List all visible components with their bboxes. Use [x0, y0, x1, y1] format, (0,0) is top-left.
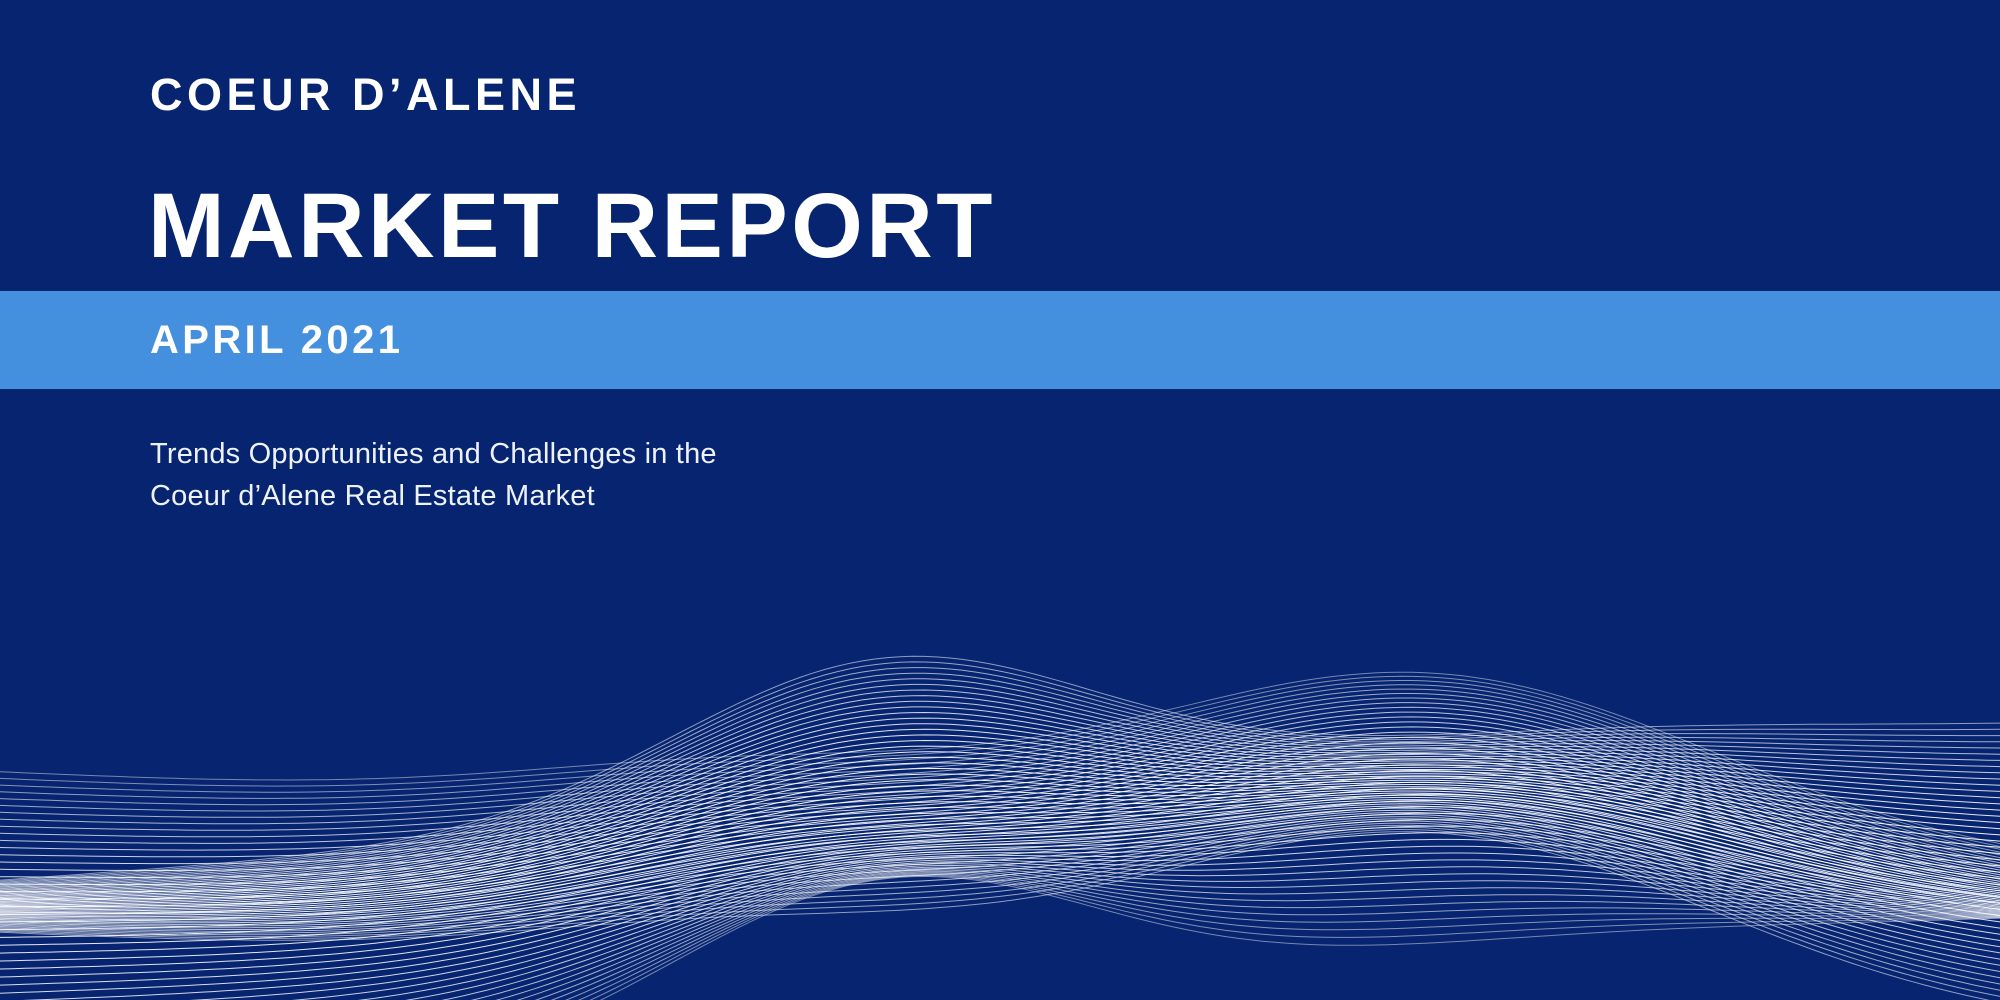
wave-line	[0, 780, 2000, 906]
wave-line	[0, 823, 2000, 978]
wave-line	[0, 839, 2000, 1000]
wave-line	[0, 746, 2000, 899]
subtitle-line-2: Coeur d’Alene Real Estate Market	[150, 475, 717, 517]
wave-line	[0, 860, 2000, 1000]
wave-line	[0, 727, 2000, 875]
wave-line	[0, 724, 2000, 894]
report-cover-page: COEUR D’ALENE MARKET REPORT APRIL 2021 T…	[0, 0, 2000, 1000]
wave-line	[0, 757, 2000, 901]
wave-line	[0, 732, 2000, 877]
wave-line	[0, 759, 2000, 899]
wave-line	[0, 788, 2000, 937]
wave-line	[0, 672, 2000, 843]
wave-line	[0, 722, 2000, 873]
wave-line	[0, 656, 2000, 880]
wave-line	[0, 876, 2000, 1000]
wave-line	[0, 832, 2000, 1000]
wave-line	[0, 853, 2000, 1000]
wave-line	[0, 826, 2000, 985]
wave-line	[0, 703, 2000, 863]
wave-line	[0, 748, 2000, 885]
brand-eyebrow: COEUR D’ALENE	[150, 72, 581, 117]
wave-line	[0, 743, 2000, 882]
wave-line	[0, 717, 2000, 870]
wave-line	[0, 871, 2000, 1000]
wave-line	[0, 718, 2000, 893]
wave-line	[0, 808, 2000, 934]
wave-line	[0, 833, 2000, 994]
wave-line	[0, 769, 2000, 904]
wave-line	[0, 865, 2000, 1000]
wave-line	[0, 801, 2000, 954]
wave-line	[0, 787, 2000, 908]
wave-line	[0, 681, 2000, 850]
wave-line	[0, 741, 2000, 898]
wave-line	[0, 752, 2000, 900]
wave-line	[0, 707, 2000, 865]
wave-line	[0, 876, 2000, 1000]
wave-line	[0, 846, 2000, 1000]
wave-line	[0, 694, 2000, 858]
wave-line	[0, 696, 2000, 889]
wave-line	[0, 712, 2000, 868]
wave-line	[0, 821, 2000, 972]
wave-line	[0, 782, 2000, 929]
wave-line	[0, 791, 2000, 910]
wave-line	[0, 793, 2000, 911]
wave-line	[0, 795, 2000, 912]
wave-line	[0, 698, 2000, 860]
wave-line	[0, 810, 2000, 940]
wave-line	[0, 830, 2000, 997]
wave-line	[0, 804, 2000, 922]
wave-line	[0, 662, 2000, 881]
wave-line	[0, 864, 2000, 1000]
wave-line	[0, 737, 2000, 879]
wave-line	[0, 797, 2000, 913]
wave-line	[0, 789, 2000, 909]
wave-line	[0, 806, 2000, 928]
wave-line	[0, 819, 2000, 966]
wave-line	[0, 690, 2000, 887]
wave-line	[0, 673, 2000, 883]
wave-line	[0, 794, 2000, 945]
wave-line	[0, 754, 2000, 892]
wave-line	[0, 807, 2000, 961]
wave-line	[0, 825, 2000, 984]
wave-line	[0, 812, 2000, 946]
wave-line	[0, 800, 2000, 916]
wave-line	[0, 763, 2000, 902]
wave-line	[0, 707, 2000, 891]
wave-line	[0, 815, 2000, 953]
wave-line	[0, 785, 2000, 907]
wave-line	[0, 870, 2000, 1000]
wave-line	[0, 776, 2000, 922]
wave-line	[0, 867, 2000, 1000]
wave-line	[0, 676, 2000, 846]
wave-line	[0, 684, 2000, 886]
page-title: MARKET REPORT	[148, 175, 996, 278]
subtitle-line-1: Trends Opportunities and Challenges in t…	[150, 433, 717, 475]
wave-line	[0, 874, 2000, 1000]
wave-line	[0, 701, 2000, 889]
wave-line	[0, 774, 2000, 904]
wave-line	[0, 685, 2000, 852]
wave-line	[0, 689, 2000, 855]
wave-line	[0, 813, 2000, 969]
wave-line	[0, 820, 2000, 977]
wave-line	[0, 869, 2000, 1000]
report-subtitle: Trends Opportunities and Challenges in t…	[150, 433, 717, 517]
wave-line	[0, 771, 2000, 915]
wave-line	[0, 873, 2000, 1000]
wave-line	[0, 827, 2000, 990]
wave-line	[0, 679, 2000, 885]
wave-line	[0, 765, 2000, 907]
wave-line	[0, 729, 2000, 895]
report-date: APRIL 2021	[150, 320, 403, 360]
wave-line	[0, 668, 2000, 883]
wave-line	[0, 713, 2000, 892]
wave-line	[0, 802, 2000, 917]
wave-line	[0, 817, 2000, 959]
wave-line	[0, 735, 2000, 896]
wave-line	[0, 875, 2000, 1000]
